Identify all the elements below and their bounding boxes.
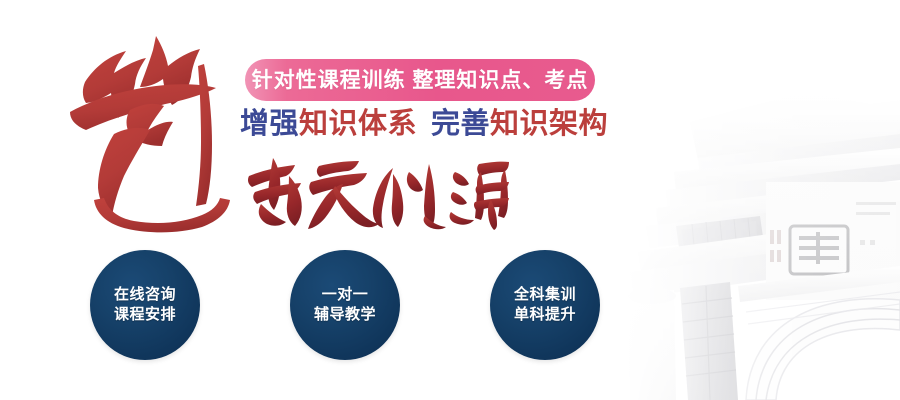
circle-line-2: 单科提升 [514, 305, 576, 325]
feature-circle-online-consult[interactable]: 在线咨询 课程安排 [90, 250, 200, 360]
circle-line-1: 一对一 [322, 285, 369, 305]
circle-line-2: 课程安排 [114, 305, 176, 325]
headline-segment-3: 知识架构 [490, 108, 608, 140]
headline-segment-0: 增强 [240, 108, 299, 140]
promo-banner: 针对性课程训练 整理知识点、考点 增强知识体系完善知识架构 [0, 0, 900, 400]
headline-segment-2: 完善 [431, 108, 490, 140]
headline-segment-1: 知识体系 [299, 108, 417, 140]
photo-fade-overlay [570, 0, 900, 400]
yi-glyph-icon [52, 18, 252, 233]
feature-circle-full-subject[interactable]: 全科集训 单科提升 [490, 250, 600, 360]
kao-wen-hua-ke-glyphs-icon [243, 156, 511, 230]
calligraphy-subtitle [243, 156, 511, 230]
feature-circle-one-on-one[interactable]: 一对一 辅导教学 [290, 250, 400, 360]
circle-line-1: 在线咨询 [114, 285, 176, 305]
architecture-photo [570, 0, 900, 400]
circle-line-1: 全科集训 [514, 285, 576, 305]
gate-illustration [570, 0, 900, 400]
headline: 增强知识体系完善知识架构 [240, 108, 608, 141]
circle-line-2: 辅导教学 [314, 305, 376, 325]
yi-calligraphy-logo [52, 18, 252, 233]
pill-text: 针对性课程训练 整理知识点、考点 [252, 70, 589, 91]
pink-tagline-pill: 针对性课程训练 整理知识点、考点 [245, 59, 595, 101]
